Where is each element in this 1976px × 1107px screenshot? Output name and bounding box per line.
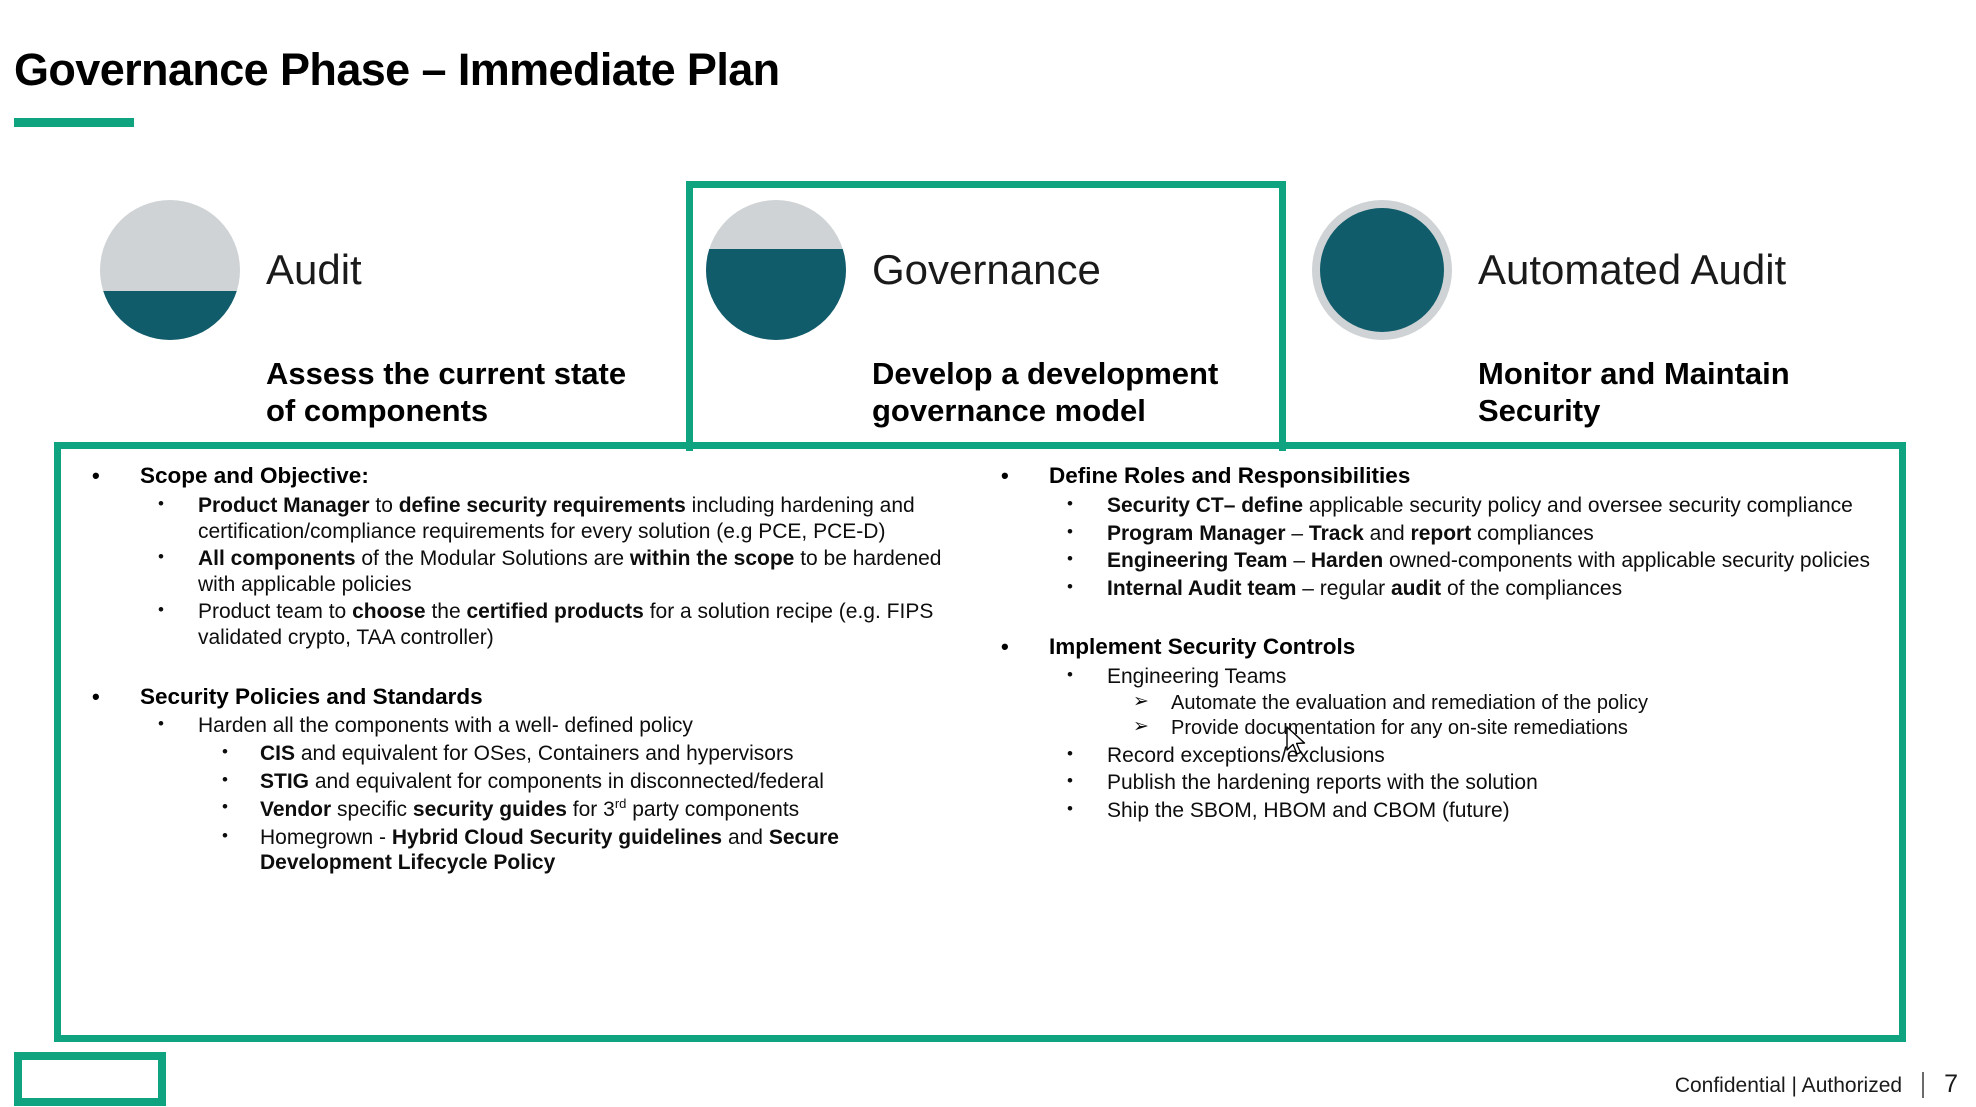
- bullet-dot-icon: •: [1067, 770, 1073, 792]
- list-item-text: Product Manager to define security requi…: [198, 494, 915, 543]
- pillars-row: Audit Assess the current state of compon…: [0, 200, 1976, 450]
- brand-logo: [14, 1052, 166, 1106]
- list-item-text: Program Manager – Track and report compl…: [1107, 522, 1594, 545]
- list-item: • Program Manager – Track and report com…: [1049, 521, 1892, 547]
- list-item: • Security CT– define applicable securit…: [1049, 493, 1892, 519]
- pillar-governance-name: Governance: [872, 249, 1101, 291]
- list-item-text: Ship the SBOM, HBOM and CBOM (future): [1107, 799, 1510, 822]
- right-column: • Define Roles and Responsibilities • Se…: [980, 462, 1906, 1032]
- mouse-cursor-icon: [1286, 726, 1308, 758]
- list-item: • Internal Audit team – regular audit of…: [1049, 576, 1892, 602]
- page-title: Governance Phase – Immediate Plan: [14, 44, 780, 96]
- list-item-text: STIG and equivalent for components in di…: [260, 770, 824, 793]
- pillar-audit: Audit Assess the current state of compon…: [100, 200, 660, 429]
- list-item: • Engineering Team – Harden owned-compon…: [1049, 548, 1892, 574]
- bullet-dot-icon: •: [1067, 664, 1073, 686]
- bullet-dot-icon: •: [222, 796, 228, 818]
- right-column-spacer: [981, 603, 1892, 633]
- bullet-arrow-icon: ➢: [1133, 690, 1149, 715]
- left-section-scope: • Scope and Objective: • Product Manager…: [72, 462, 966, 651]
- list-item: • CIS and equivalent for OSes, Container…: [198, 741, 966, 767]
- list-item-text: Vendor specific security guides for 3rd …: [260, 798, 799, 821]
- list-item-text: Product team to choose the certified pro…: [198, 600, 933, 649]
- automated-audit-full-circle-icon: [1312, 200, 1452, 340]
- pillar-automated-audit-row: Automated Audit: [1312, 200, 1912, 340]
- pillar-audit-subtitle: Assess the current state of components: [266, 356, 660, 429]
- left-column-spacer: [72, 653, 966, 683]
- left-policies-subitems: • CIS and equivalent for OSes, Container…: [198, 741, 966, 876]
- slide-canvas: Governance Phase – Immediate Plan Audit …: [0, 0, 1976, 1107]
- right-heading-roles: • Define Roles and Responsibilities • Se…: [981, 462, 1892, 601]
- list-item: ➢ Provide documentation for any on-site …: [1107, 716, 1892, 740]
- list-item-text: Engineering Team – Harden owned-componen…: [1107, 549, 1870, 572]
- list-item: • Product Manager to define security req…: [140, 493, 966, 544]
- list-item: • Publish the hardening reports with the…: [1049, 770, 1892, 796]
- left-policies-items: • Harden all the components with a well-…: [140, 713, 966, 876]
- bullet-dot-icon: •: [1067, 576, 1073, 598]
- page-number: 7: [1944, 1070, 1958, 1099]
- list-item: ➢ Automate the evaluation and remediatio…: [1107, 691, 1892, 715]
- left-heading-scope-text: Scope and Objective:: [140, 463, 369, 488]
- content-columns: • Scope and Objective: • Product Manager…: [54, 462, 1906, 1032]
- list-item: • Ship the SBOM, HBOM and CBOM (future): [1049, 798, 1892, 824]
- bullet-dot-icon: •: [1067, 548, 1073, 570]
- pillar-automated-audit: Automated Audit Monitor and Maintain Sec…: [1312, 200, 1912, 429]
- left-section-policies: • Security Policies and Standards • Hard…: [72, 683, 966, 877]
- pillar-governance: Governance Develop a development governa…: [706, 200, 1266, 429]
- right-heading-controls: • Implement Security Controls • Engineer…: [981, 633, 1892, 823]
- list-item: • All components of the Modular Solution…: [140, 546, 966, 597]
- bullet-dot-icon: •: [1067, 493, 1073, 515]
- left-heading-policies-text: Security Policies and Standards: [140, 684, 483, 709]
- pillar-governance-subtitle: Develop a development governance model: [872, 356, 1266, 429]
- list-item-text: Engineering Teams: [1107, 665, 1286, 688]
- list-item-text: Publish the hardening reports with the s…: [1107, 771, 1538, 794]
- title-underline-rule: [14, 118, 134, 127]
- bullet-dot-icon: •: [222, 769, 228, 791]
- list-item: • Record exceptions/exclusions: [1049, 743, 1892, 769]
- list-item-text: Record exceptions/exclusions: [1107, 744, 1385, 767]
- pillar-audit-row: Audit: [100, 200, 660, 340]
- list-item-text: Harden all the components with a well- d…: [198, 714, 693, 737]
- bullet-arrow-icon: ➢: [1133, 715, 1149, 740]
- right-section-roles: • Define Roles and Responsibilities • Se…: [981, 462, 1892, 601]
- list-item-text: CIS and equivalent for OSes, Containers …: [260, 742, 793, 765]
- bullet-dot-icon: •: [1067, 521, 1073, 543]
- pillar-governance-row: Governance: [706, 200, 1266, 340]
- footer: Confidential | Authorized 7: [1675, 1070, 1958, 1099]
- left-heading-scope: • Scope and Objective: • Product Manager…: [72, 462, 966, 651]
- left-column: • Scope and Objective: • Product Manager…: [54, 462, 980, 1032]
- bullet-dot-icon: •: [92, 683, 100, 710]
- left-heading-policies: • Security Policies and Standards • Hard…: [72, 683, 966, 877]
- bullet-dot-icon: •: [1001, 633, 1009, 660]
- bullet-dot-icon: •: [1067, 743, 1073, 765]
- list-item-text: Provide documentation for any on-site re…: [1171, 717, 1628, 739]
- right-heading-controls-text: Implement Security Controls: [1049, 634, 1355, 659]
- list-item: • Engineering Teams ➢ Automate the evalu…: [1049, 664, 1892, 740]
- audit-progress-circle-icon: [100, 200, 240, 340]
- bullet-dot-icon: •: [158, 599, 164, 621]
- bullet-dot-icon: •: [222, 825, 228, 847]
- right-controls-items: • Engineering Teams ➢ Automate the evalu…: [1049, 664, 1892, 823]
- list-item-text: Homegrown - Hybrid Cloud Security guidel…: [260, 826, 839, 875]
- list-item-text: Automate the evaluation and remediation …: [1171, 692, 1648, 714]
- list-item: • Homegrown - Hybrid Cloud Security guid…: [198, 825, 966, 876]
- list-item: • STIG and equivalent for components in …: [198, 769, 966, 795]
- pillar-automated-audit-subtitle: Monitor and Maintain Security: [1478, 356, 1912, 429]
- bullet-dot-icon: •: [1067, 798, 1073, 820]
- bullet-dot-icon: •: [158, 493, 164, 515]
- bullet-dot-icon: •: [158, 546, 164, 568]
- footer-divider: [1922, 1072, 1924, 1098]
- right-controls-arrow-items: ➢ Automate the evaluation and remediatio…: [1107, 691, 1892, 741]
- list-item: • Product team to choose the certified p…: [140, 599, 966, 650]
- left-scope-items: • Product Manager to define security req…: [140, 493, 966, 651]
- list-item-text: Security CT– define applicable security …: [1107, 494, 1853, 517]
- right-roles-items: • Security CT– define applicable securit…: [1049, 493, 1892, 601]
- bullet-dot-icon: •: [158, 713, 164, 735]
- list-item: • Vendor specific security guides for 3r…: [198, 796, 966, 823]
- list-item-text: Internal Audit team – regular audit of t…: [1107, 577, 1622, 600]
- confidentiality-label: Confidential | Authorized: [1675, 1074, 1902, 1098]
- bullet-dot-icon: •: [222, 741, 228, 763]
- pillar-automated-audit-name: Automated Audit: [1478, 249, 1786, 291]
- right-heading-roles-text: Define Roles and Responsibilities: [1049, 463, 1410, 488]
- bullet-dot-icon: •: [1001, 462, 1009, 489]
- bullet-dot-icon: •: [92, 462, 100, 489]
- governance-progress-circle-icon: [706, 200, 846, 340]
- right-section-controls: • Implement Security Controls • Engineer…: [981, 633, 1892, 823]
- list-item-text: All components of the Modular Solutions …: [198, 547, 941, 596]
- list-item: • Harden all the components with a well-…: [140, 713, 966, 876]
- pillar-audit-name: Audit: [266, 249, 362, 291]
